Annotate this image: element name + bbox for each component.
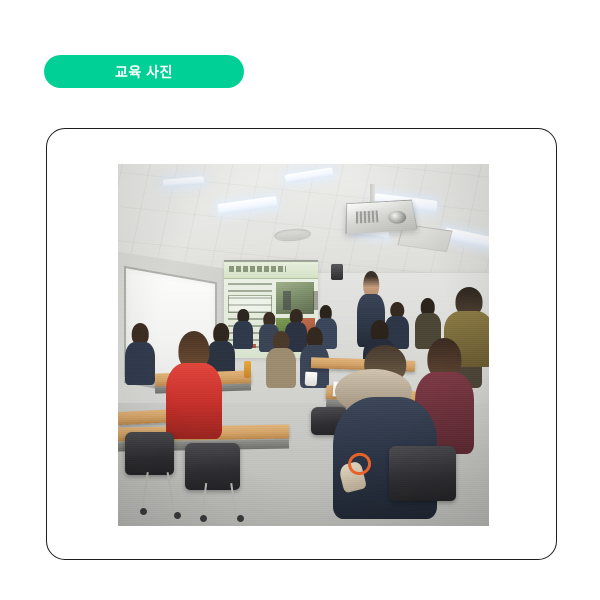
projector-lens [388, 211, 407, 225]
person-body [233, 321, 253, 349]
person-body [266, 348, 296, 389]
person-body [166, 363, 222, 439]
chair [125, 432, 173, 475]
wall-speaker [331, 264, 343, 280]
section-badge: 교육 사진 [44, 55, 244, 88]
projector-vent-grill [356, 211, 379, 224]
audience-person [266, 331, 296, 389]
ceiling-projector [346, 200, 418, 235]
audience-person [233, 309, 253, 349]
classroom-scene [118, 164, 489, 526]
chair [389, 446, 456, 500]
chair-caster [174, 512, 181, 519]
desk-paper-cup [305, 372, 318, 387]
section-badge-label: 교육 사진 [115, 65, 173, 79]
audience-person [125, 323, 155, 385]
chair-caster [200, 515, 207, 522]
photo-card [46, 128, 557, 560]
foreground-person-red-jacket [166, 331, 222, 440]
desk-bottle [244, 361, 251, 378]
education-photo [118, 164, 489, 526]
chair-caster [237, 515, 244, 522]
slide-title-text [229, 266, 286, 273]
person-body [125, 342, 155, 385]
